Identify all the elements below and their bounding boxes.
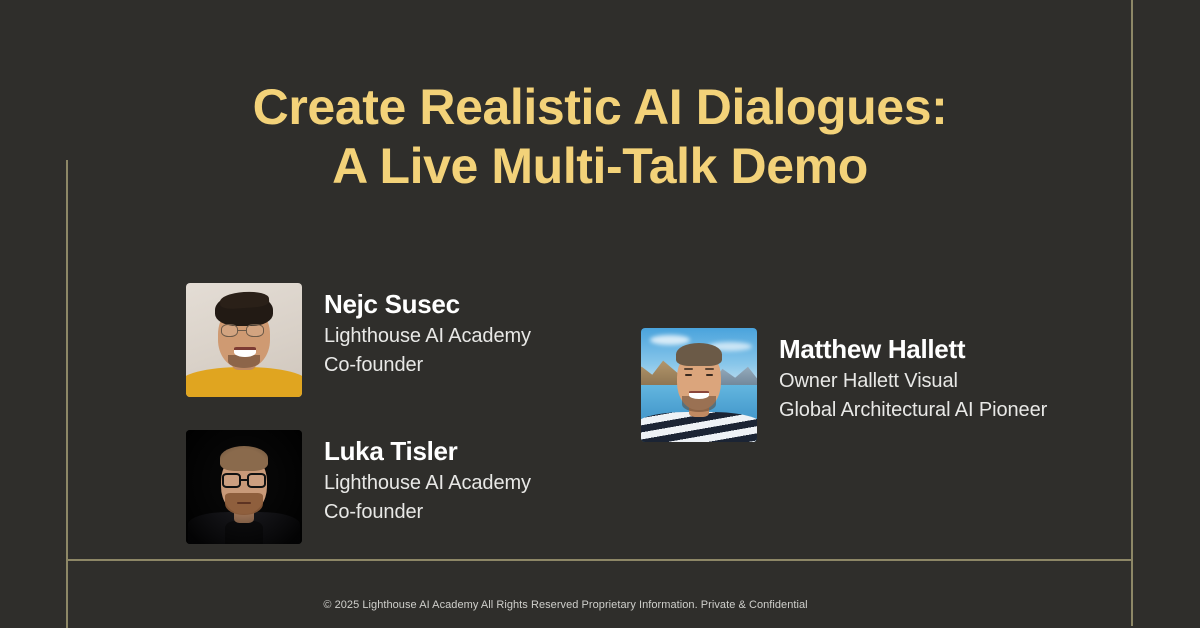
decorative-rule-bottom-horizontal: [66, 559, 1133, 561]
speaker-card-2: Luka Tisler Lighthouse AI Academy Co-fou…: [186, 430, 531, 544]
speaker-role-1-line-1: Lighthouse AI Academy: [324, 323, 531, 349]
speaker-role-2-line-2: Co-founder: [324, 499, 531, 525]
decorative-rule-left-vertical: [66, 160, 68, 628]
speaker-details-2: Luka Tisler Lighthouse AI Academy Co-fou…: [324, 430, 531, 525]
speaker-role-1-line-2: Co-founder: [324, 352, 531, 378]
presentation-slide: Create Realistic AI Dialogues: A Live Mu…: [0, 0, 1200, 628]
title-line-2: A Live Multi-Talk Demo: [0, 137, 1200, 196]
speaker-role-2-line-1: Lighthouse AI Academy: [324, 470, 531, 496]
speaker-name-2: Luka Tisler: [324, 435, 531, 467]
title-line-1: Create Realistic AI Dialogues:: [0, 78, 1200, 137]
speaker-role-3-line-2: Global Architectural AI Pioneer: [779, 397, 1047, 423]
avatar-nejc-susec: [186, 283, 302, 397]
avatar-luka-tisler: [186, 430, 302, 544]
speaker-details-1: Nejc Susec Lighthouse AI Academy Co-foun…: [324, 283, 531, 378]
speaker-details-3: Matthew Hallett Owner Hallett Visual Glo…: [779, 328, 1047, 423]
slide-title: Create Realistic AI Dialogues: A Live Mu…: [0, 78, 1200, 196]
speaker-name-1: Nejc Susec: [324, 288, 531, 320]
speaker-card-1: Nejc Susec Lighthouse AI Academy Co-foun…: [186, 283, 531, 397]
speaker-name-3: Matthew Hallett: [779, 333, 1047, 365]
footer-copyright: © 2025 Lighthouse AI Academy All Rights …: [0, 598, 1131, 612]
avatar-matthew-hallett: [641, 328, 757, 442]
speaker-card-3: Matthew Hallett Owner Hallett Visual Glo…: [641, 328, 1047, 442]
speaker-role-3-line-1: Owner Hallett Visual: [779, 368, 1047, 394]
